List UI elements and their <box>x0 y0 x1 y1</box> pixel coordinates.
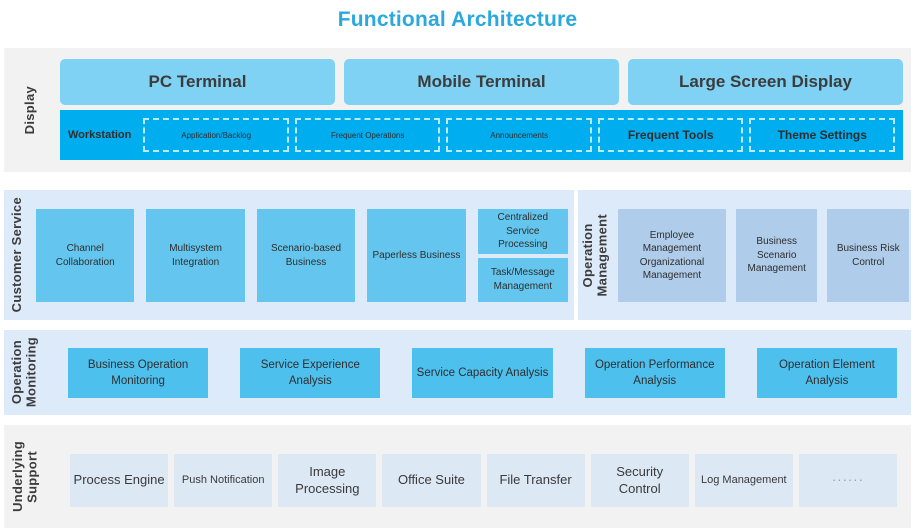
sup-box-file-transfer[interactable]: File Transfer <box>487 454 585 507</box>
mon-box-service-capacity-analysis[interactable]: Service Capacity Analysis <box>412 348 552 398</box>
layer-operation-monitoring-label-cell: Operation Monitoring <box>4 330 46 415</box>
layer-display-label-cell: Display <box>4 48 56 172</box>
workstation-label: Workstation <box>66 129 137 141</box>
sup-box-office-suite[interactable]: Office Suite <box>382 454 480 507</box>
om-box-business-scenario-management[interactable]: Business Scenario Management <box>736 209 818 302</box>
mon-box-business-operation-monitoring[interactable]: Business Operation Monitoring <box>68 348 208 398</box>
cs-box-centralized-service-processing[interactable]: Centralized Service Processing <box>478 209 568 254</box>
layer-customer-service-body: Channel Collaboration Multisystem Integr… <box>30 190 574 320</box>
cs-box-paperless-business[interactable]: Paperless Business <box>367 209 465 302</box>
cs-box-channel-collaboration[interactable]: Channel Collaboration <box>36 209 134 302</box>
operation-monitoring-row: Business Operation Monitoring Service Ex… <box>68 348 897 398</box>
layer-customer-service: Customer Service Channel Collaboration M… <box>4 190 574 320</box>
om-box-business-risk-control[interactable]: Business Risk Control <box>827 209 909 302</box>
sup-box-process-engine[interactable]: Process Engine <box>70 454 168 507</box>
layer-operation-monitoring-body: Business Operation Monitoring Service Ex… <box>46 330 911 415</box>
workstation-item-application-backlog[interactable]: Application/Backlog <box>143 118 289 152</box>
workstation-row: Workstation Application/Backlog Frequent… <box>60 110 903 160</box>
om-box-employee-management[interactable]: Employee Management Organizational Manag… <box>618 209 726 302</box>
layer-display-label: Display <box>23 86 38 134</box>
layer-customer-service-label-cell: Customer Service <box>4 190 30 320</box>
terminal-mobile[interactable]: Mobile Terminal <box>344 59 619 105</box>
layer-display: Display PC Terminal Mobile Terminal Larg… <box>4 48 911 172</box>
customer-service-row: Channel Collaboration Multisystem Integr… <box>36 209 568 302</box>
layer-operation-monitoring-label: Operation Monitoring <box>10 337 39 407</box>
cs-box-scenario-based-business[interactable]: Scenario-based Business <box>257 209 355 302</box>
layer-operation-management: Operation Management Employee Management… <box>578 190 911 320</box>
sup-box-security-control[interactable]: Security Control <box>591 454 689 507</box>
cs-stacked-group: Centralized Service Processing Task/Mess… <box>478 209 568 302</box>
underlying-support-row: Process Engine Push Notification Image P… <box>70 454 897 507</box>
page-title: Functional Architecture <box>0 8 915 32</box>
terminal-pc[interactable]: PC Terminal <box>60 59 335 105</box>
layer-underlying-support-body: Process Engine Push Notification Image P… <box>48 425 911 528</box>
layer-customer-service-label: Customer Service <box>10 197 25 312</box>
layer-operation-management-body: Employee Management Organizational Manag… <box>614 190 911 320</box>
workstation-item-frequent-operations[interactable]: Frequent Operations <box>295 118 441 152</box>
sup-box-image-processing[interactable]: Image Processing <box>278 454 376 507</box>
terminal-large-screen[interactable]: Large Screen Display <box>628 59 903 105</box>
operation-management-row: Employee Management Organizational Manag… <box>618 209 909 302</box>
layer-underlying-support-label-cell: Underlying Support <box>4 425 48 528</box>
workstation-item-frequent-tools[interactable]: Frequent Tools <box>598 118 744 152</box>
terminal-row: PC Terminal Mobile Terminal Large Screen… <box>60 59 903 105</box>
sup-box-ellipsis: ······ <box>799 454 897 507</box>
layer-underlying-support-label: Underlying Support <box>11 441 40 512</box>
sup-box-push-notification[interactable]: Push Notification <box>174 454 272 507</box>
layer-operation-monitoring: Operation Monitoring Business Operation … <box>4 330 911 415</box>
layer-operation-management-label: Operation Management <box>581 214 610 296</box>
mon-box-service-experience-analysis[interactable]: Service Experience Analysis <box>240 348 380 398</box>
mon-box-operation-performance-analysis[interactable]: Operation Performance Analysis <box>585 348 725 398</box>
workstation-item-announcements[interactable]: Announcements <box>446 118 592 152</box>
cs-box-multisystem-integration[interactable]: Multisystem Integration <box>146 209 244 302</box>
mon-box-operation-element-analysis[interactable]: Operation Element Analysis <box>757 348 897 398</box>
layer-underlying-support: Underlying Support Process Engine Push N… <box>4 425 911 528</box>
sup-box-log-management[interactable]: Log Management <box>695 454 793 507</box>
layer-operation-management-label-cell: Operation Management <box>578 190 614 320</box>
layer-display-body: PC Terminal Mobile Terminal Large Screen… <box>56 48 911 172</box>
cs-box-task-message-management[interactable]: Task/Message Management <box>478 258 568 303</box>
workstation-item-theme-settings[interactable]: Theme Settings <box>749 118 895 152</box>
